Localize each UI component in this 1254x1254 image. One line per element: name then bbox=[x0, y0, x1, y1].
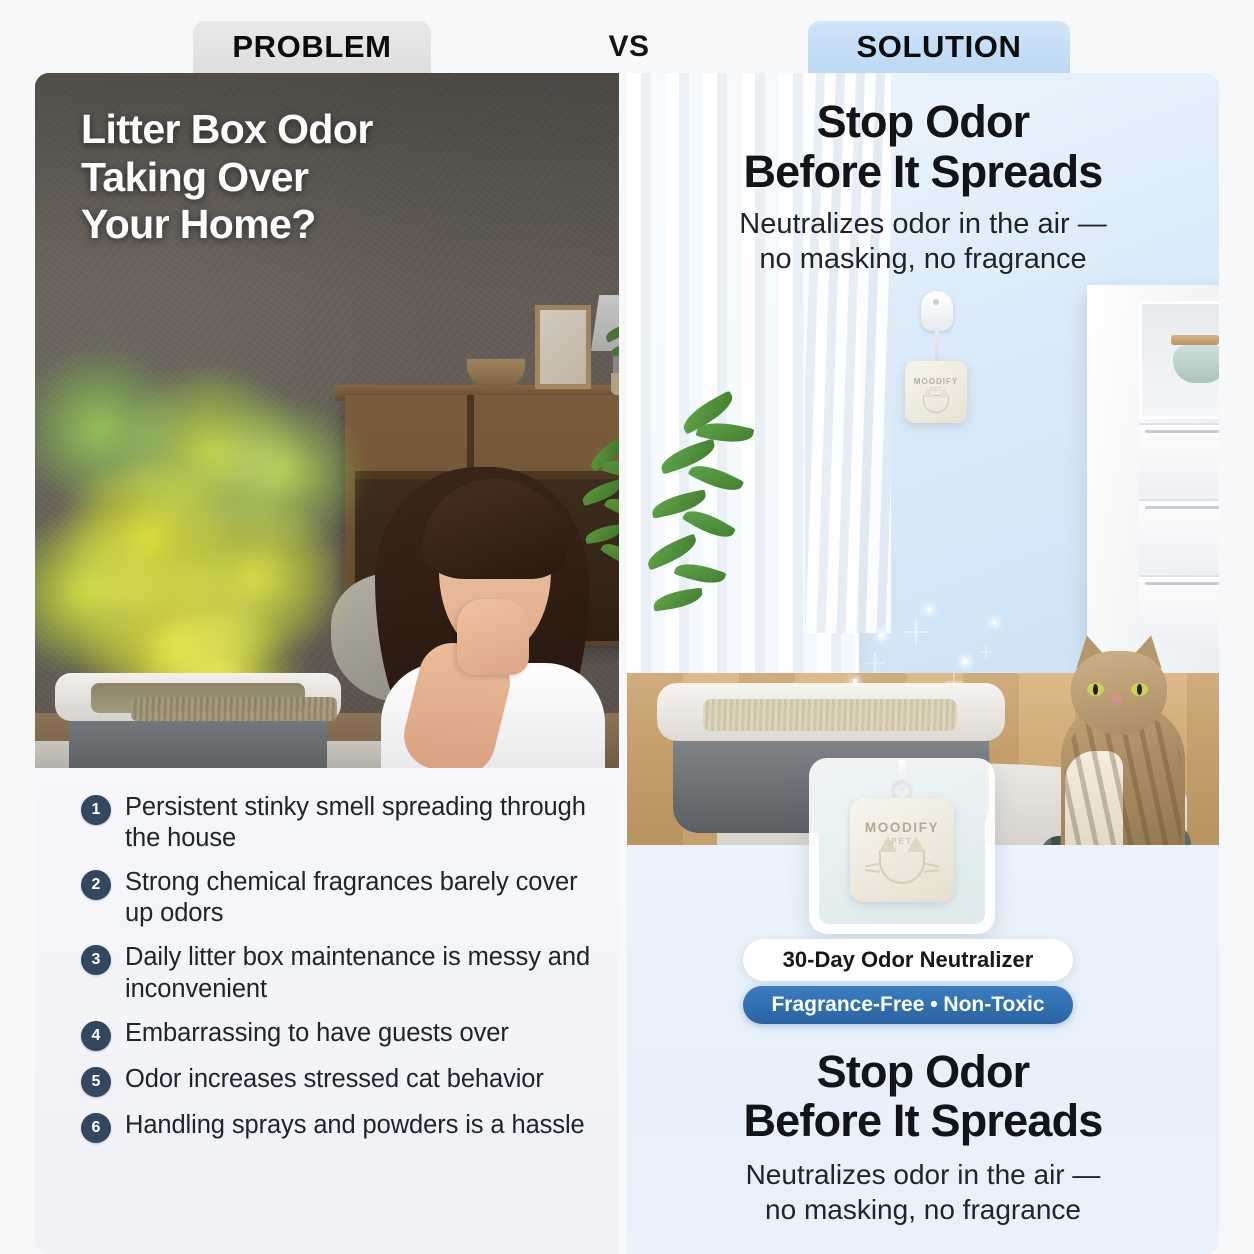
solution-headline-line1: Stop Odor bbox=[627, 97, 1219, 147]
solution-headline-line2: Before It Spreads bbox=[627, 147, 1219, 197]
tab-solution[interactable]: SOLUTION bbox=[808, 21, 1070, 73]
product-brand-label: MOODIFY bbox=[850, 820, 954, 835]
problem-headline-line1: Litter Box Odor bbox=[81, 106, 373, 154]
tall-houseplant-icon bbox=[639, 403, 757, 653]
bullet-text: Odor increases stressed cat behavior bbox=[125, 1064, 544, 1095]
cat-eye-left bbox=[1087, 683, 1104, 696]
problem-photo-scene: Litter Box Odor Taking Over Your Home? bbox=[35, 73, 619, 768]
tab-solution-label: SOLUTION bbox=[857, 29, 1022, 65]
list-item: 1 Persistent stinky smell spreading thro… bbox=[81, 792, 591, 854]
list-item: 5 Odor increases stressed cat behavior bbox=[81, 1064, 591, 1097]
solution-sub-line2: no masking, no fragrance bbox=[627, 242, 1219, 277]
list-item: 6 Handling sprays and powders is a hassl… bbox=[81, 1110, 591, 1143]
whisker bbox=[924, 862, 939, 867]
list-item: 3 Daily litter box maintenance is messy … bbox=[81, 942, 591, 1004]
wood-board-decor bbox=[1171, 335, 1219, 345]
product-brand-sub: PET bbox=[850, 837, 954, 846]
cabinet-drawer[interactable] bbox=[1139, 423, 1219, 497]
cat-ear-right-icon bbox=[907, 836, 925, 852]
device-brand-sub: PET bbox=[905, 387, 967, 393]
bullet-number: 1 bbox=[81, 795, 111, 825]
device-brand-label: MOODIFY bbox=[905, 377, 967, 386]
bullet-number: 4 bbox=[81, 1021, 111, 1051]
drawer-handle bbox=[1145, 430, 1219, 433]
moodify-device-small: MOODIFY PET bbox=[905, 361, 967, 423]
list-item: 4 Embarrassing to have guests over bbox=[81, 1018, 591, 1051]
badge-fragrance-free-label: Fragrance-Free • Non-Toxic bbox=[771, 993, 1044, 1017]
bullet-number: 3 bbox=[81, 945, 111, 975]
problem-headline-line3: Your Home? bbox=[81, 201, 373, 249]
bullet-text: Daily litter box maintenance is messy an… bbox=[125, 942, 591, 1004]
bullet-number: 2 bbox=[81, 870, 111, 900]
solution-bottom-sub-line1: Neutralizes odor in the air — bbox=[627, 1157, 1219, 1192]
bullet-text: Handling sprays and powders is a hassle bbox=[125, 1110, 585, 1141]
whisker bbox=[865, 862, 880, 867]
tabby-cat bbox=[1035, 633, 1213, 845]
cat-nose bbox=[1111, 695, 1123, 703]
whisker bbox=[924, 869, 939, 872]
cat-face-icon bbox=[923, 395, 949, 413]
badge-fragrance-free: Fragrance-Free • Non-Toxic bbox=[743, 986, 1073, 1024]
bullet-text: Persistent stinky smell spreading throug… bbox=[125, 792, 591, 854]
bullet-text: Strong chemical fragrances barely cover … bbox=[125, 867, 591, 929]
vs-text: VS bbox=[608, 30, 649, 64]
solution-bottom-text-block: Stop Odor Before It Spreads Neutralizes … bbox=[627, 1048, 1219, 1227]
problem-headline-line2: Taking Over bbox=[81, 154, 373, 202]
litter-fill bbox=[703, 699, 957, 731]
problem-bullet-list: 1 Persistent stinky smell spreading thro… bbox=[35, 768, 619, 1254]
list-item: 2 Strong chemical fragrances barely cove… bbox=[81, 867, 591, 929]
solution-headline-block: Stop Odor Before It Spreads Neutralizes … bbox=[627, 97, 1219, 278]
solution-sub-line1: Neutralizes odor in the air — bbox=[627, 207, 1219, 242]
badge-odor-neutralizer-label: 30-Day Odor Neutralizer bbox=[783, 947, 1034, 973]
litter-box-rim bbox=[657, 683, 1005, 741]
cat-face-icon bbox=[879, 850, 925, 884]
cat-head bbox=[1071, 651, 1167, 735]
wall-hook-screw bbox=[933, 299, 939, 305]
solution-bottom-sub-line2: no masking, no fragrance bbox=[627, 1192, 1219, 1227]
bullet-text: Embarrassing to have guests over bbox=[125, 1018, 509, 1049]
problem-panel: Litter Box Odor Taking Over Your Home? 1… bbox=[35, 73, 619, 1254]
drawer-handle bbox=[1145, 506, 1219, 509]
tab-problem-label: PROBLEM bbox=[232, 29, 391, 65]
cabinet-drawer[interactable] bbox=[1139, 499, 1219, 573]
moodify-device-large: MOODIFY PET bbox=[850, 798, 954, 902]
vs-label: VS bbox=[570, 24, 688, 70]
ceramic-bowl-decor bbox=[1173, 345, 1219, 383]
solution-panel: MOODIFY PET Stop Odor Before It Spreads … bbox=[627, 73, 1219, 1254]
drawer-handle bbox=[1145, 582, 1219, 585]
cat-ear-left-icon bbox=[879, 836, 897, 852]
badge-odor-neutralizer: 30-Day Odor Neutralizer bbox=[743, 939, 1073, 981]
solution-bottom-headline-line2: Before It Spreads bbox=[627, 1097, 1219, 1146]
tab-problem[interactable]: PROBLEM bbox=[193, 21, 431, 73]
cat-eye-right bbox=[1131, 683, 1148, 696]
whisker bbox=[865, 869, 880, 872]
bullet-number: 5 bbox=[81, 1067, 111, 1097]
solution-bottom-headline-line1: Stop Odor bbox=[627, 1048, 1219, 1097]
product-card[interactable]: MOODIFY PET bbox=[809, 758, 995, 934]
problem-headline: Litter Box Odor Taking Over Your Home? bbox=[81, 106, 373, 249]
comparison-tab-row: PROBLEM VS SOLUTION bbox=[0, 0, 1254, 73]
bullet-number: 6 bbox=[81, 1113, 111, 1143]
